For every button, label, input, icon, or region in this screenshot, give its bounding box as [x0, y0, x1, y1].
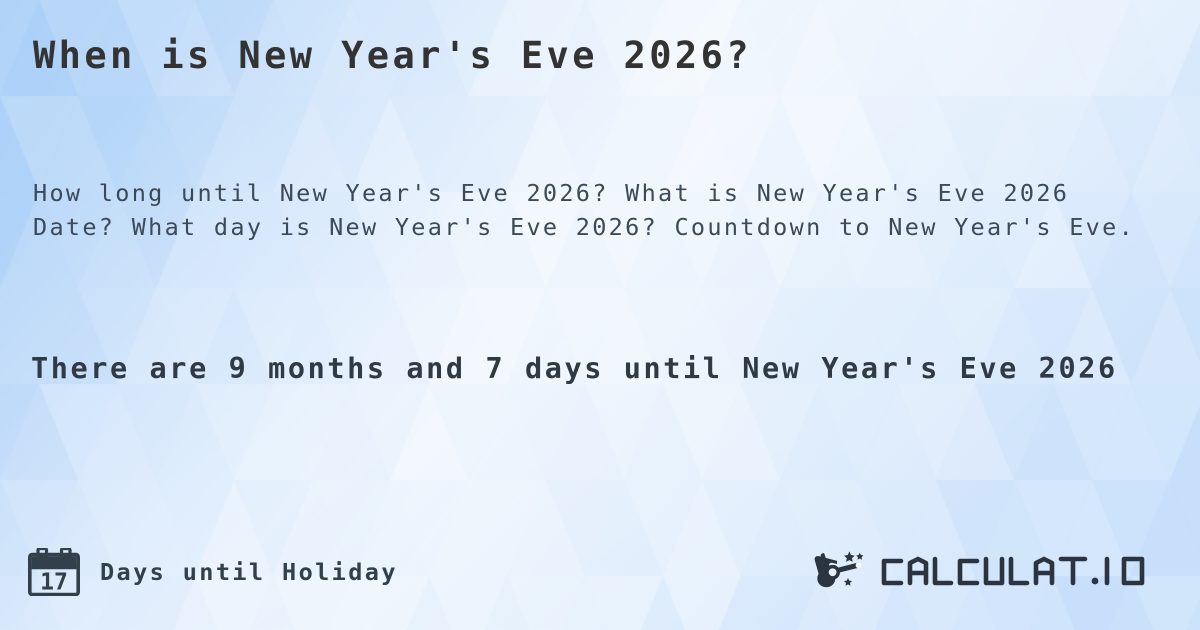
- footer-label: Days until Holiday: [100, 559, 398, 585]
- brand-wordmark: [876, 548, 1176, 596]
- calendar-17-icon: 17: [28, 548, 80, 596]
- footer-left-group: 17 Days until Holiday: [28, 548, 398, 596]
- magic-wand-hand-icon: [812, 548, 872, 596]
- page-title: When is New Year's Eve 2026?: [33, 36, 752, 77]
- calendar-day-number: 17: [40, 570, 68, 596]
- page-description: How long until New Year's Eve 2026? What…: [33, 176, 1153, 244]
- brand-logo[interactable]: [812, 548, 1176, 596]
- countdown-headline: There are 9 months and 7 days until New …: [31, 345, 1161, 393]
- page-root: When is New Year's Eve 2026? How long un…: [0, 0, 1200, 630]
